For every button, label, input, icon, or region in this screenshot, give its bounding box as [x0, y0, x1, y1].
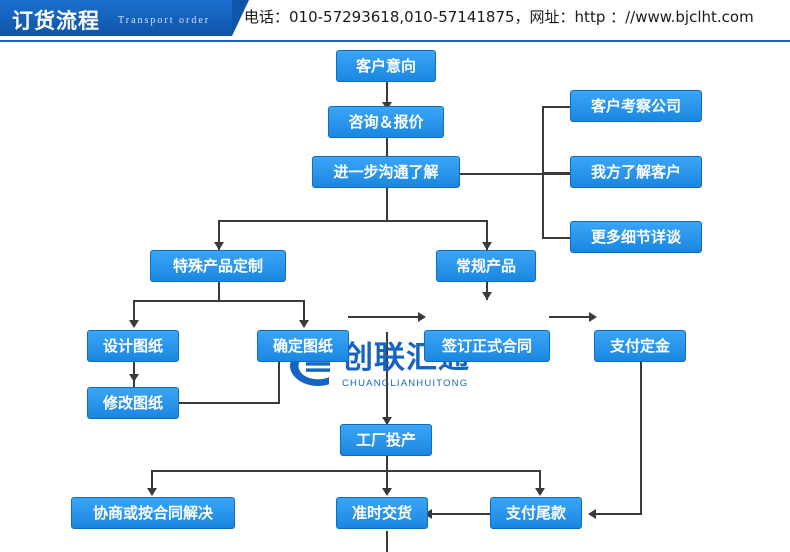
node-design-drawing[interactable]: 设计图纸	[87, 330, 179, 362]
edge-bottom-split	[151, 470, 541, 472]
arrow-to-custom	[214, 242, 224, 250]
edge-custom-split	[133, 300, 305, 302]
node-custom-product[interactable]: 特殊产品定制	[150, 250, 286, 282]
node-factory-production[interactable]: 工厂投产	[340, 424, 432, 456]
page-subtitle-english: Transport order	[118, 15, 210, 26]
node-more-details-discussion[interactable]: 更多细节详谈	[570, 221, 702, 253]
node-confirm-drawing[interactable]: 确定图纸	[257, 330, 349, 362]
node-standard-product[interactable]: 常规产品	[436, 250, 536, 282]
watermark-brand-en: CHUANGLIANHUITONG	[342, 378, 470, 389]
node-revise-drawing[interactable]: 修改图纸	[87, 387, 179, 419]
arrow-deposit-to-balance	[588, 509, 596, 519]
edge-branch-to-details	[542, 237, 570, 239]
arrow-contract-to-deposit	[589, 312, 597, 322]
edge-revise-to-confirm-h	[175, 402, 280, 404]
arrow-to-standard	[482, 242, 492, 250]
order-process-flowchart: 创联汇通 CHUANGLIANHUITONG 客户意向 咨询＆报价 进一步沟通了…	[0, 42, 790, 552]
node-customer-intent[interactable]: 客户意向	[336, 50, 436, 82]
edge-balance-to-delivery	[428, 513, 490, 515]
contact-info: 电话：010-57293618,010-57141875，网址：http ：//…	[244, 6, 754, 27]
node-consult-quote[interactable]: 咨询＆报价	[328, 106, 444, 138]
node-pay-deposit[interactable]: 支付定金	[594, 330, 686, 362]
node-sign-contract[interactable]: 签订正式合同	[424, 330, 550, 362]
node-pay-balance[interactable]: 支付尾款	[490, 497, 582, 529]
edge-branch-to-know	[542, 172, 570, 174]
page-title: 订货流程	[12, 5, 100, 35]
arrow-to-design	[129, 320, 139, 328]
edge-intent-to-quote	[386, 82, 388, 104]
node-we-know-customer[interactable]: 我方了解客户	[570, 156, 702, 188]
edge-branch-to-visit	[542, 106, 570, 108]
arrow-to-balance	[535, 488, 545, 496]
edge-deposit-to-balance	[592, 513, 642, 515]
edge-confirm-to-contract	[348, 316, 424, 318]
edge-revise-to-confirm-v	[278, 357, 280, 404]
arrow-to-delivery	[382, 488, 392, 496]
node-negotiate-or-contract-resolution[interactable]: 协商或按合同解决	[71, 497, 235, 529]
node-further-communication[interactable]: 进一步沟通了解	[312, 156, 460, 188]
node-on-time-delivery[interactable]: 准时交货	[336, 497, 428, 529]
edge-split-custom-standard	[218, 220, 488, 222]
arrow-standard-to-contract	[482, 292, 492, 300]
edge-communicate-down	[386, 188, 388, 222]
page-header: 订货流程 Transport order 电话：010-57293618,010…	[0, 0, 790, 42]
arrow-confirm-to-contract	[418, 312, 426, 322]
node-customer-visit-company[interactable]: 客户考察公司	[570, 90, 702, 122]
arrow-design-to-revise	[129, 374, 139, 382]
arrow-to-negotiate	[147, 488, 157, 496]
arrow-to-confirm	[299, 320, 309, 328]
edge-delivery-down	[386, 531, 388, 552]
